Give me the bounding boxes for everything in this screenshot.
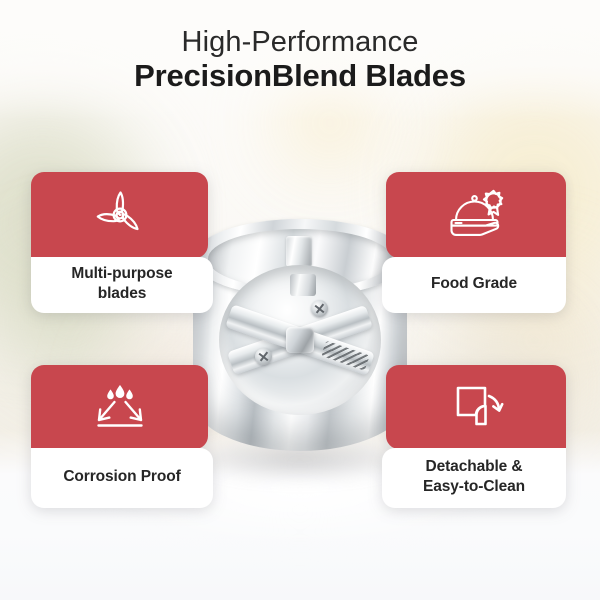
feature-label-pane: Food Grade: [382, 257, 566, 313]
feature-label: Detachable & Easy-to-Clean: [423, 457, 525, 495]
feature-label-pane: Multi-purpose blades: [31, 257, 213, 313]
feature-icon-pane: [386, 172, 566, 258]
product-screw-bottom: [255, 348, 272, 365]
feature-label: Multi-purpose blades: [71, 264, 172, 302]
title-line-secondary: PrecisionBlend Blades: [0, 58, 600, 95]
product-blade-assembly: [219, 265, 381, 415]
product-screw-top: [311, 300, 328, 317]
detachable-corner-icon: [445, 380, 507, 434]
feature-card-multi-purpose-blades[interactable]: Multi-purpose blades: [31, 172, 213, 313]
product-blade-serration: [321, 341, 370, 371]
feature-card-corrosion-proof[interactable]: Corrosion Proof: [31, 365, 213, 508]
page-title: High-Performance PrecisionBlend Blades: [0, 26, 600, 95]
feature-label: Food Grade: [431, 274, 517, 293]
food-cloche-award-icon: [443, 187, 509, 243]
feature-card-detachable-easy-to-clean[interactable]: Detachable & Easy-to-Clean: [382, 365, 566, 508]
propeller-icon: [90, 187, 150, 243]
feature-label-pane: Corrosion Proof: [31, 448, 213, 508]
infographic-canvas: High-Performance PrecisionBlend Blades: [0, 0, 600, 600]
product-hex-nut: [286, 327, 314, 353]
feature-card-food-grade[interactable]: Food Grade: [382, 172, 566, 313]
feature-icon-pane: [31, 365, 208, 449]
feature-label: Corrosion Proof: [63, 467, 180, 486]
title-line-primary: High-Performance: [0, 26, 600, 58]
feature-icon-pane: [31, 172, 208, 258]
feature-icon-pane: [386, 365, 566, 449]
water-repellent-icon: [88, 380, 152, 434]
product-rim-tab: [286, 236, 312, 267]
feature-label-pane: Detachable & Easy-to-Clean: [382, 448, 566, 508]
